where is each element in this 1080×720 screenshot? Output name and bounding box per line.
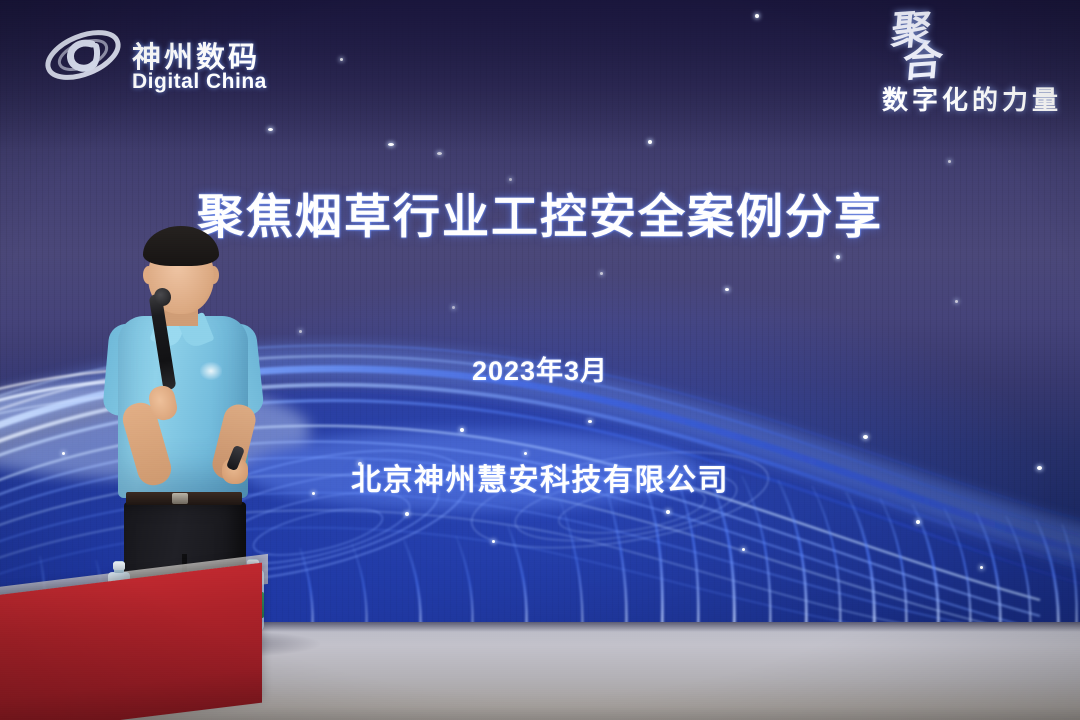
event-logo: 聚 合 数字化的力量 [802, 12, 1062, 112]
event-mark-line2: 合 [901, 45, 944, 81]
brand-name-en: Digital China [132, 70, 267, 94]
event-subtitle: 数字化的力量 [882, 80, 1062, 117]
digital-china-logo: 神州数码 Digital China [42, 18, 282, 96]
conference-stage-photo: 聚焦烟草行业工控安全案例分享 2023年3月 北京神州慧安科技有限公司 神州数码… [0, 0, 1080, 720]
bottle-cap [113, 562, 125, 570]
foreground-table [0, 560, 280, 720]
event-calligraphy-mark: 聚 合 [887, 12, 947, 81]
swirl-logo-icon [42, 22, 124, 88]
belt-buckle [172, 493, 188, 504]
speaker-hair [143, 226, 219, 266]
shirt-chest-logo-icon [200, 362, 222, 380]
